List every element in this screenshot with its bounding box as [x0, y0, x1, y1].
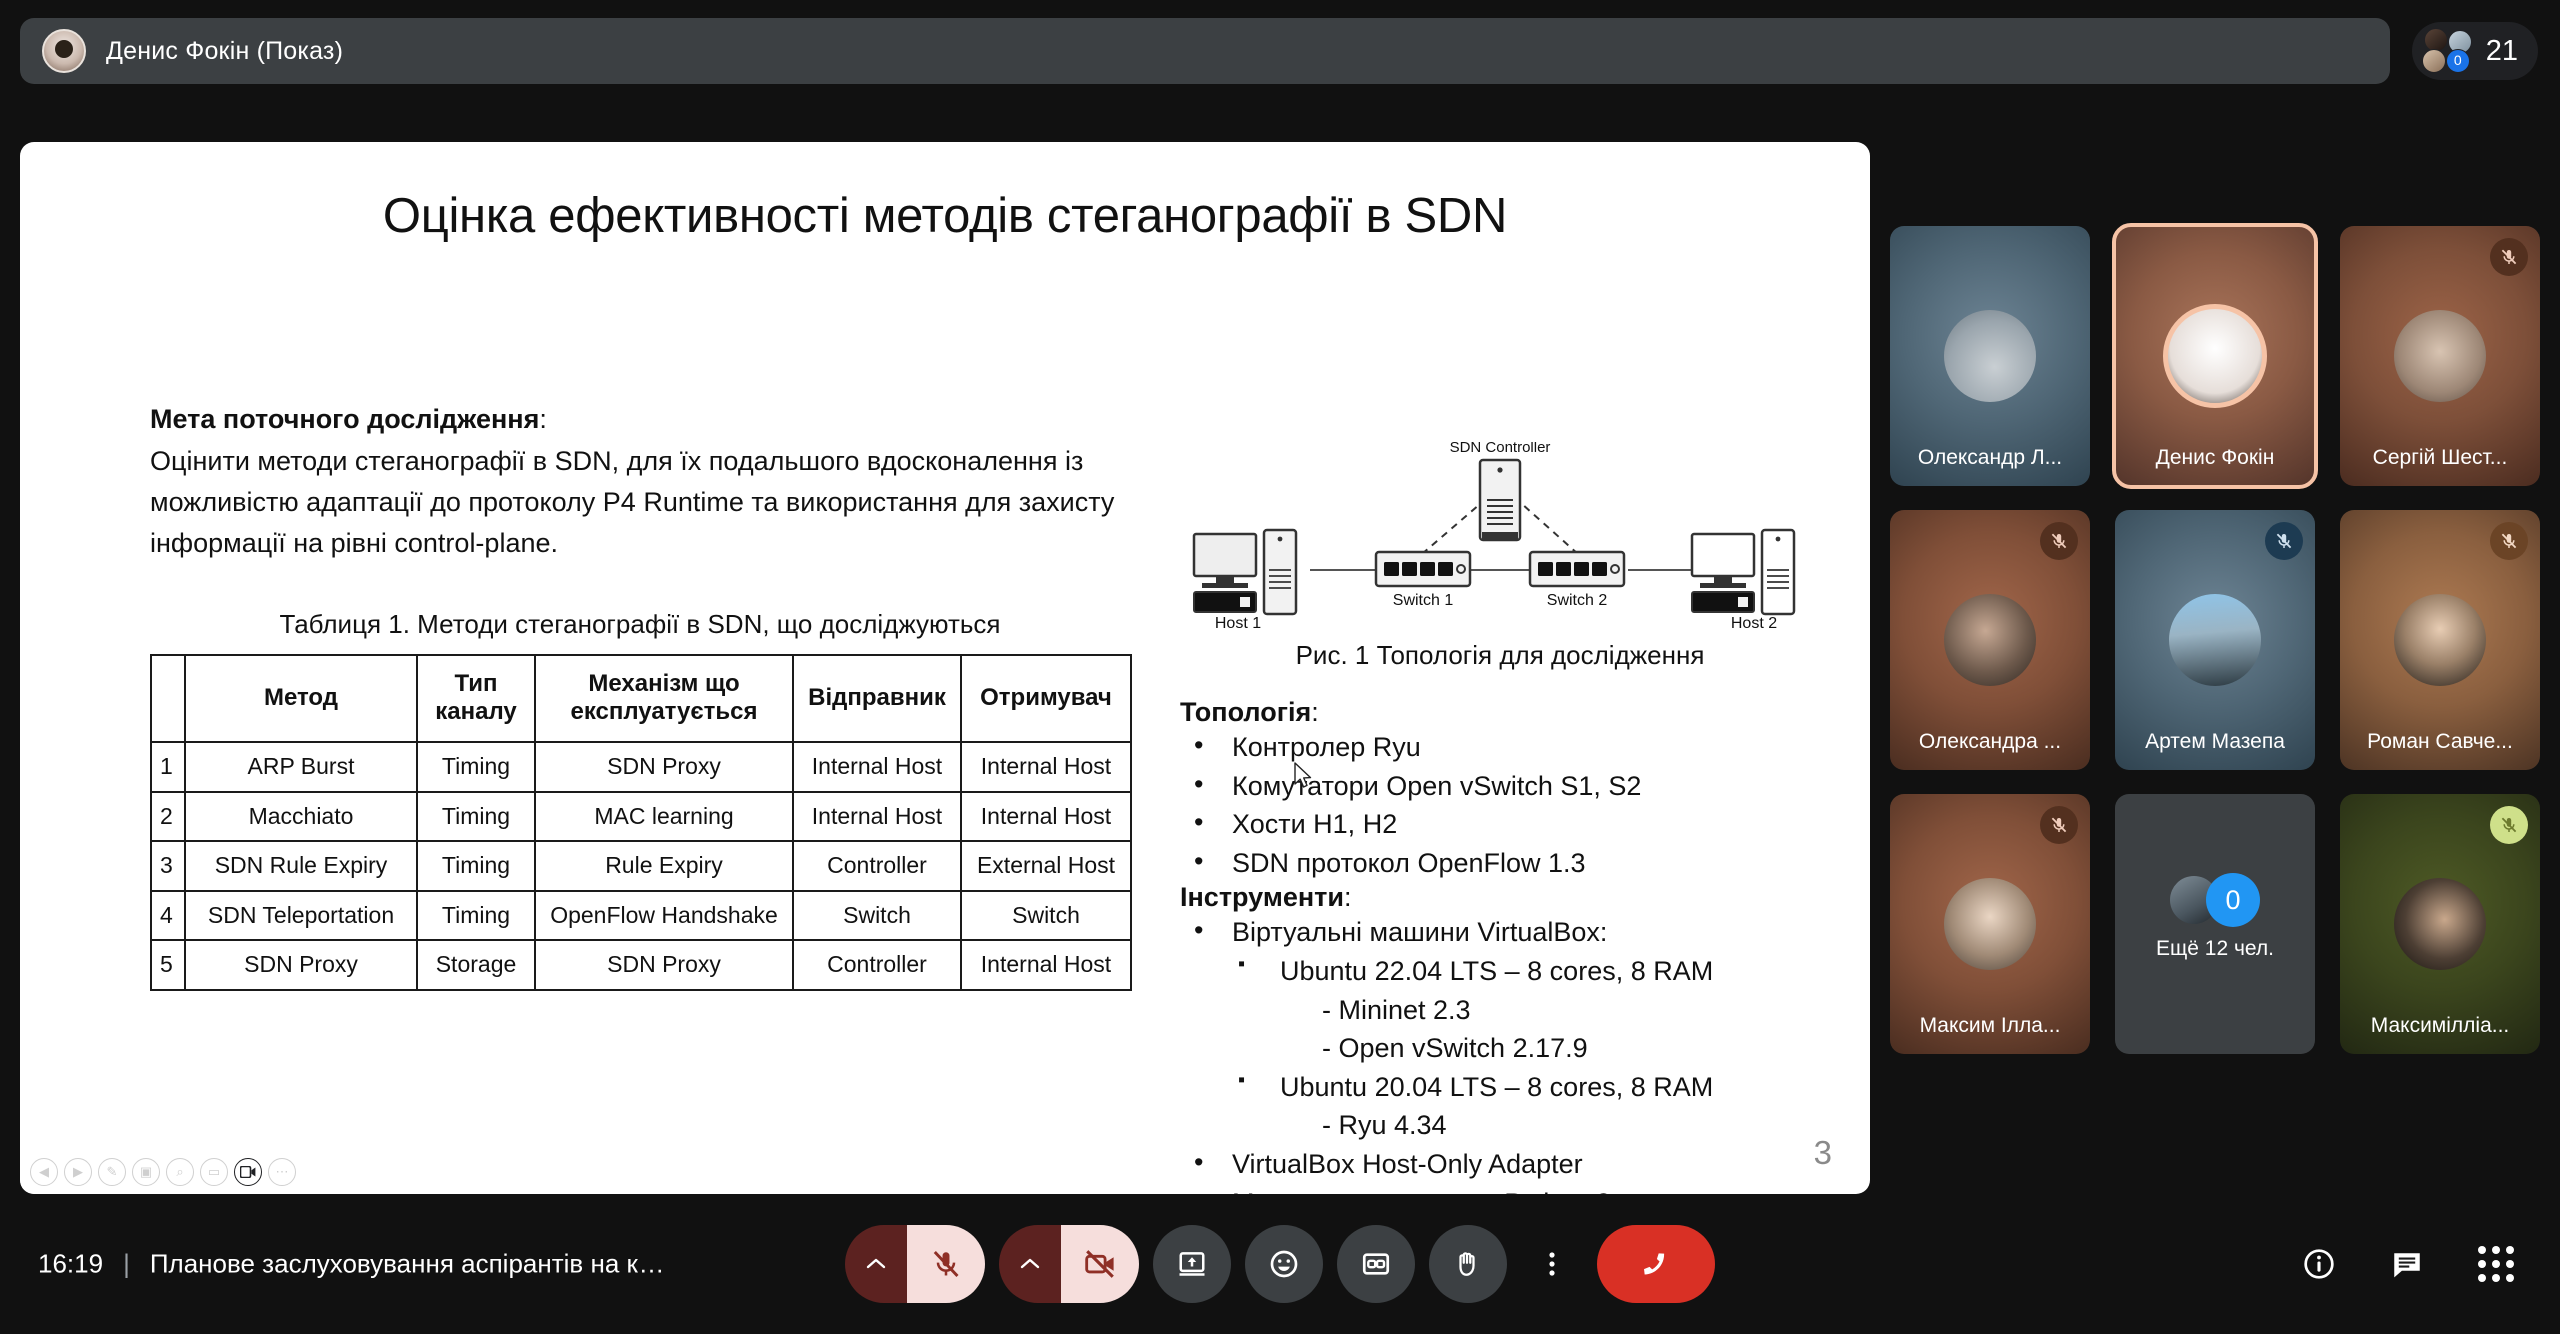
participant-tile[interactable]: Сергій Шест...	[2340, 226, 2540, 486]
topology-figure: SDN Controller Switch 1 Switch 2 Host 1 …	[1180, 442, 1820, 632]
participant-tile-active[interactable]: Денис Фокін	[2115, 226, 2315, 486]
table-row: 3 SDN Rule Expiry Timing Rule Expiry Con…	[151, 841, 1131, 891]
cell-receiver: Internal Host	[961, 742, 1131, 792]
cell-type: Timing	[417, 742, 535, 792]
cell-sender: Switch	[793, 891, 961, 941]
topology-heading-colon: :	[1311, 697, 1319, 727]
cell-sender: Controller	[793, 940, 961, 990]
presenter-avatar	[42, 29, 86, 73]
participant-count-pill[interactable]: 0 21	[2412, 22, 2538, 80]
avatar	[2394, 878, 2486, 970]
overflow-avatars: 0	[2115, 873, 2315, 927]
methods-table: Метод Тип каналу Механізм що експлуатуєт…	[150, 654, 1132, 992]
cell-type: Timing	[417, 792, 535, 842]
overflow-label: Ещё 12 чел.	[2115, 937, 2315, 961]
grid-icon[interactable]: ▣	[132, 1158, 160, 1186]
bottom-bar: 16:19 | Планове заслуховування аспіранті…	[0, 1194, 2560, 1334]
col-channel-type: Тип каналу	[417, 655, 535, 743]
avatar	[2169, 594, 2261, 686]
cell-sender: Controller	[793, 841, 961, 891]
participant-tile[interactable]: Олександра ...	[1890, 510, 2090, 770]
cell-method: ARP Burst	[185, 742, 417, 792]
participant-name: Олександра ...	[1890, 730, 2090, 754]
meeting-time: 16:19	[38, 1249, 103, 1280]
table-row: 4 SDN Teleportation Timing OpenFlow Hand…	[151, 891, 1131, 941]
controller-label: SDN Controller	[1450, 442, 1551, 456]
pen-icon[interactable]: ✎	[98, 1158, 126, 1186]
participant-count: 21	[2486, 35, 2518, 68]
participant-avatars: 0	[2422, 28, 2474, 74]
cell-sender: Internal Host	[793, 742, 961, 792]
separator: |	[123, 1249, 130, 1280]
topology-heading-text: Топологія	[1180, 697, 1311, 727]
meet-window: Денис Фокін (Показ) 0 21 Оцінка ефективн…	[0, 0, 2560, 1334]
list-item: Комутатори Open vSwitch S1, S2	[1180, 767, 1820, 806]
table-row: 2 Macchiato Timing MAC learning Internal…	[151, 792, 1131, 842]
present-screen-button[interactable]	[1153, 1225, 1231, 1303]
cell-method: SDN Proxy	[185, 940, 417, 990]
list-item: Ubuntu 20.04 LTS – 8 cores, 8 RAM	[1180, 1068, 1820, 1107]
col-channel-type-l1: Тип	[424, 670, 528, 699]
next-slide-icon[interactable]: ▶	[64, 1158, 92, 1186]
cell-mechanism: SDN Proxy	[535, 940, 793, 990]
bottom-right-icons	[2302, 1246, 2514, 1282]
cell-mechanism: OpenFlow Handshake	[535, 891, 793, 941]
vm-detail: - Ryu 4.34	[1180, 1106, 1820, 1145]
cell-index: 3	[151, 841, 185, 891]
previous-slide-icon[interactable]: ◀	[30, 1158, 58, 1186]
mic-muted-button[interactable]	[907, 1225, 985, 1303]
tools-heading-colon: :	[1344, 882, 1352, 912]
cell-index: 4	[151, 891, 185, 941]
raise-hand-button[interactable]	[1429, 1225, 1507, 1303]
slide-right-column: SDN Controller Switch 1 Switch 2 Host 1 …	[1180, 442, 1820, 1194]
tools-heading-text: Інструменти	[1180, 882, 1344, 912]
end-call-button[interactable]	[1597, 1225, 1715, 1303]
participant-name: Денис Фокін	[2115, 446, 2315, 470]
table-header-row: Метод Тип каналу Механізм що експлуатуєт…	[151, 655, 1131, 743]
cell-method: SDN Rule Expiry	[185, 841, 417, 891]
tools-heading: Інструменти:	[1180, 882, 1820, 913]
activities-icon[interactable]	[2478, 1246, 2514, 1282]
avatar	[1944, 594, 2036, 686]
avatar-overflow-badge: 0	[2446, 49, 2470, 73]
table-body: 1 ARP Burst Timing SDN Proxy Internal Ho…	[151, 742, 1131, 990]
participant-tiles: Олександр Л... Денис Фокін Сергій Шест..…	[1890, 226, 2540, 1054]
mic-control[interactable]	[845, 1225, 985, 1303]
avatar	[2422, 49, 2446, 73]
captions-button[interactable]	[1337, 1225, 1415, 1303]
chat-icon[interactable]	[2390, 1247, 2424, 1281]
list-item: Мова програмування Python 3	[1180, 1184, 1820, 1194]
goal-heading: Мета поточного дослідження:	[150, 400, 1150, 439]
mic-muted-icon	[2490, 238, 2528, 276]
dot-grid	[2478, 1246, 2514, 1282]
presentation-stage[interactable]: Оцінка ефективності методів стеганографі…	[20, 142, 1870, 1194]
avatar	[2394, 310, 2486, 402]
col-mechanism-l2: експлуатується	[542, 698, 786, 727]
mic-muted-icon	[2490, 522, 2528, 560]
cell-method: SDN Teleportation	[185, 891, 417, 941]
topology-diagram-svg: SDN Controller Switch 1 Switch 2 Host 1 …	[1180, 442, 1820, 632]
col-mechanism-l1: Механізм що	[542, 670, 786, 699]
cell-sender: Internal Host	[793, 792, 961, 842]
host1-label: Host 1	[1215, 615, 1261, 632]
vm-detail: - Open vSwitch 2.17.9	[1180, 1029, 1820, 1068]
list-item: Віртуальні машини VirtualBox:	[1180, 913, 1820, 952]
table-row: 5 SDN Proxy Storage SDN Proxy Controller…	[151, 940, 1131, 990]
switch1-label: Switch 1	[1393, 592, 1454, 609]
col-sender: Відправник	[793, 655, 961, 743]
cell-index: 2	[151, 792, 185, 842]
col-method: Метод	[185, 655, 417, 743]
overflow-participants-tile[interactable]: 0 Ещё 12 чел.	[2115, 794, 2315, 1054]
mic-muted-icon	[2265, 522, 2303, 560]
mic-muted-icon	[2490, 806, 2528, 844]
switch2-label: Switch 2	[1547, 592, 1608, 609]
avatar	[2394, 594, 2486, 686]
participant-tile[interactable]: Максим Ілла...	[1890, 794, 2090, 1054]
camera-control[interactable]	[999, 1225, 1139, 1303]
avatar	[1944, 878, 2036, 970]
slide-number: 3	[1814, 1134, 1832, 1172]
col-mechanism: Механізм що експлуатується	[535, 655, 793, 743]
cell-index: 1	[151, 742, 185, 792]
avatar	[1944, 310, 2036, 402]
participant-name: Артем Мазепа	[2115, 730, 2315, 754]
participant-name: Сергій Шест...	[2340, 446, 2540, 470]
cell-receiver: External Host	[961, 841, 1131, 891]
cell-mechanism: Rule Expiry	[535, 841, 793, 891]
list-item: Ubuntu 22.04 LTS – 8 cores, 8 RAM	[1180, 952, 1820, 991]
list-item: Хости H1, H2	[1180, 805, 1820, 844]
cell-index: 5	[151, 940, 185, 990]
goal-body: Оцінити методи стеганографії в SDN, для …	[150, 441, 1150, 564]
camera-icon[interactable]	[234, 1158, 262, 1186]
more-options-button[interactable]	[1521, 1225, 1583, 1303]
participant-name: Олександр Л...	[1890, 446, 2090, 470]
col-index	[151, 655, 185, 743]
table-row: 1 ARP Burst Timing SDN Proxy Internal Ho…	[151, 742, 1131, 792]
meeting-status: 16:19 | Планове заслуховування аспіранті…	[38, 1249, 678, 1280]
participant-name: Максим Ілла...	[1890, 1014, 2090, 1038]
cell-receiver: Switch	[961, 891, 1131, 941]
slide-left-column: Мета поточного дослідження: Оцінити мето…	[150, 400, 1150, 991]
col-channel-type-l2: каналу	[424, 698, 528, 727]
cell-mechanism: MAC learning	[535, 792, 793, 842]
vm-detail: - Mininet 2.3	[1180, 991, 1820, 1030]
col-receiver: Отримувач	[961, 655, 1131, 743]
tools-list: Віртуальні машини VirtualBox:	[1180, 913, 1820, 952]
camera-options-chevron-up-icon[interactable]	[999, 1225, 1061, 1303]
zoom-icon[interactable]: ⌕	[166, 1158, 194, 1186]
cell-mechanism: SDN Proxy	[535, 742, 793, 792]
figure-caption: Рис. 1 Топологія для дослідження	[1180, 640, 1820, 671]
cell-type: Storage	[417, 940, 535, 990]
tools-list-2: VirtualBox Host-Only Adapter Мова програ…	[1180, 1145, 1820, 1194]
list-item: VirtualBox Host-Only Adapter	[1180, 1145, 1820, 1184]
cell-type: Timing	[417, 841, 535, 891]
host2-label: Host 2	[1731, 615, 1777, 632]
participant-tile[interactable]: Роман Савче...	[2340, 510, 2540, 770]
slide-viewer-toolbar[interactable]: ◀ ▶ ✎ ▣ ⌕ ▭ ⋯	[20, 1150, 306, 1194]
cell-receiver: Internal Host	[961, 940, 1131, 990]
list-item: SDN протокол OpenFlow 1.3	[1180, 844, 1820, 883]
topology-list: Контролер Ryu Комутатори Open vSwitch S1…	[1180, 728, 1820, 882]
slide-title: Оцінка ефективності методів стеганографі…	[20, 188, 1870, 244]
participant-name: Максимілліа...	[2340, 1014, 2540, 1038]
topology-heading: Топологія:	[1180, 697, 1820, 728]
table-caption: Таблиця 1. Методи стеганографії в SDN, щ…	[150, 609, 1130, 640]
participant-name: Роман Савче...	[2340, 730, 2540, 754]
vm-sublist: Ubuntu 22.04 LTS – 8 cores, 8 RAM	[1180, 952, 1820, 991]
overflow-inner: 0 Ещё 12 чел.	[2115, 873, 2315, 961]
participant-tile[interactable]: Артем Мазепа	[2115, 510, 2315, 770]
overflow-badge: 0	[2206, 873, 2260, 927]
camera-off-button[interactable]	[1061, 1225, 1139, 1303]
present-icon[interactable]: ▭	[200, 1158, 228, 1186]
goal-heading-text: Мета поточного дослідження	[150, 404, 539, 434]
vm-sublist: Ubuntu 20.04 LTS – 8 cores, 8 RAM	[1180, 1068, 1820, 1107]
list-item: Контролер Ryu	[1180, 728, 1820, 767]
more-options-icon[interactable]: ⋯	[268, 1158, 296, 1186]
cell-type: Timing	[417, 891, 535, 941]
avatar	[2163, 304, 2267, 408]
mic-muted-icon	[2040, 522, 2078, 560]
reactions-button[interactable]	[1245, 1225, 1323, 1303]
mic-options-chevron-up-icon[interactable]	[845, 1225, 907, 1303]
goal-heading-colon: :	[539, 404, 547, 434]
cell-receiver: Internal Host	[961, 792, 1131, 842]
cell-method: Macchiato	[185, 792, 417, 842]
participant-tile[interactable]: Максимілліа...	[2340, 794, 2540, 1054]
mic-muted-icon	[2040, 806, 2078, 844]
presenter-bar: Денис Фокін (Показ)	[20, 18, 2390, 84]
meeting-title: Планове заслуховування аспірантів на каф…	[150, 1249, 678, 1280]
info-icon[interactable]	[2302, 1247, 2336, 1281]
call-controls	[845, 1225, 1715, 1303]
participant-tile[interactable]: Олександр Л...	[1890, 226, 2090, 486]
presenter-title: Денис Фокін (Показ)	[106, 37, 343, 66]
mouse-cursor	[1293, 762, 1315, 792]
